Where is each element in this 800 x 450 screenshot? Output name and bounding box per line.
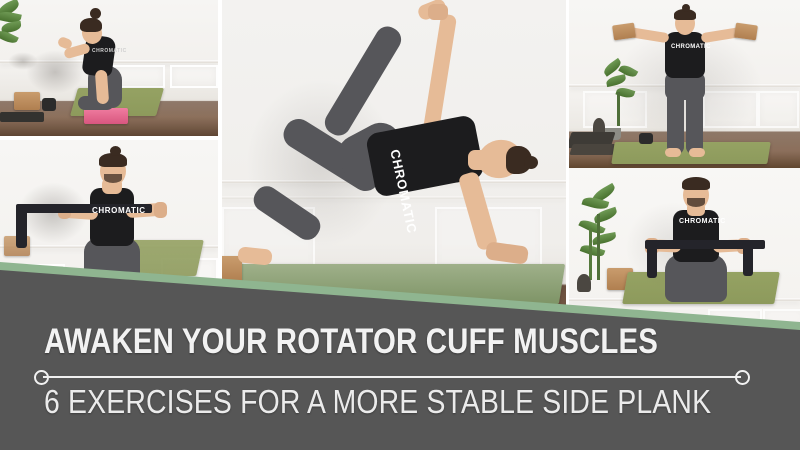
person-figure (607, 6, 763, 158)
page-title: AWAKEN YOUR ROTATOR CUFF MUSCLES (44, 322, 658, 362)
shirt-logo: CHROMATIC (671, 44, 711, 50)
yoga-block (612, 23, 636, 41)
standing-blocks-t-raise-panel: CHROMATIC (569, 0, 800, 168)
kneeling-forward-bend-panel: CHROMATIC (0, 0, 218, 136)
page-subtitle: 6 EXERCISES FOR A MORE STABLE SIDE PLANK (44, 383, 711, 421)
person-figure (58, 154, 168, 284)
yoga-strap (42, 98, 56, 111)
video-thumbnail: CHROMATIC (0, 0, 800, 450)
yoga-block (14, 92, 40, 110)
yoga-block (734, 23, 758, 41)
person-figure (60, 8, 144, 126)
shirt-logo: CHROMATIC (92, 206, 146, 215)
plant-icon (0, 0, 32, 58)
shirt-logo: CHROMATIC (679, 218, 726, 225)
